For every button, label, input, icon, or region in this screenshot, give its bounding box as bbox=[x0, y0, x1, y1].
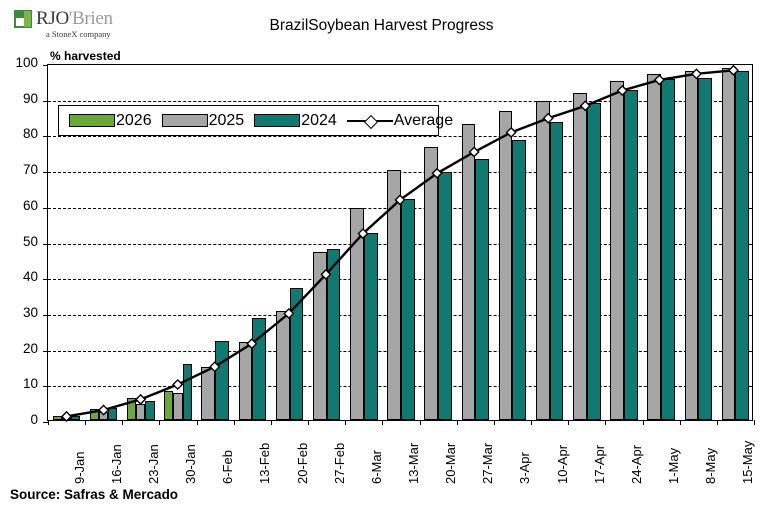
x-tick-label-27-Mar: 27-Mar bbox=[480, 443, 495, 484]
bar-2024-27-Mar bbox=[475, 159, 489, 420]
legend-label-2024: 2024 bbox=[301, 112, 337, 130]
bar-2024-9-Jan bbox=[71, 416, 80, 420]
legend-label-2025: 2025 bbox=[209, 112, 245, 130]
y-tick-mark bbox=[43, 351, 48, 352]
x-tick-label-9-Jan: 9-Jan bbox=[72, 451, 87, 484]
y-tick-label: 30 bbox=[0, 305, 38, 320]
y-tick-label: 20 bbox=[0, 341, 38, 356]
bar-2026-30-Jan bbox=[164, 391, 173, 420]
x-tick-label-24-Apr: 24-Apr bbox=[629, 445, 644, 484]
y-tick-label: 40 bbox=[0, 269, 38, 284]
y-tick-label: 90 bbox=[0, 91, 38, 106]
bar-2024-17-Apr bbox=[587, 103, 601, 420]
x-axis-labels: 9-Jan16-Jan23-Jan30-Jan6-Feb13-Feb20-Feb… bbox=[47, 424, 753, 486]
legend-item-2025[interactable]: 2025 bbox=[162, 112, 245, 130]
legend-line-swatch bbox=[347, 114, 393, 127]
y-tick-mark bbox=[43, 208, 48, 209]
bar-2024-3-Apr bbox=[512, 140, 526, 420]
legend-diamond-icon bbox=[364, 115, 378, 129]
x-tick-label-20-Mar: 20-Mar bbox=[443, 443, 458, 484]
x-tick-label-23-Jan: 23-Jan bbox=[146, 444, 161, 484]
y-tick-mark bbox=[43, 172, 48, 173]
bar-2024-6-Feb bbox=[215, 341, 229, 420]
y-tick-mark bbox=[43, 279, 48, 280]
bar-2024-27-Feb bbox=[327, 249, 341, 420]
legend-item-2024[interactable]: 2024 bbox=[254, 112, 337, 130]
bar-2025-27-Mar bbox=[462, 124, 476, 420]
x-tick-label-13-Feb: 13-Feb bbox=[257, 443, 272, 484]
bar-2024-16-Jan bbox=[108, 408, 117, 420]
y-tick-mark bbox=[43, 65, 48, 66]
bar-2024-30-Jan bbox=[183, 364, 192, 420]
bar-2025-24-Apr bbox=[610, 81, 624, 420]
bar-2024-8-May bbox=[698, 78, 712, 420]
bar-2025-17-Apr bbox=[573, 93, 587, 420]
x-tick-label-6-Mar: 6-Mar bbox=[369, 450, 384, 484]
bar-2025-8-May bbox=[685, 71, 699, 420]
x-tick-label-8-May: 8-May bbox=[703, 448, 718, 484]
x-tick-label-20-Feb: 20-Feb bbox=[295, 443, 310, 484]
y-tick-label: 0 bbox=[0, 412, 38, 427]
bar-2025-3-Apr bbox=[499, 111, 513, 420]
x-tick-label-16-Jan: 16-Jan bbox=[109, 444, 124, 484]
legend-label-2026: 2026 bbox=[116, 112, 152, 130]
y-tick-mark bbox=[43, 315, 48, 316]
legend-swatch-2025 bbox=[162, 114, 208, 127]
legend-item-2026[interactable]: 2026 bbox=[69, 112, 152, 130]
x-tick-label-15-May: 15-May bbox=[740, 441, 755, 484]
y-tick-label: 80 bbox=[0, 126, 38, 141]
bar-2024-10-Apr bbox=[550, 122, 564, 420]
x-tick-label-27-Feb: 27-Feb bbox=[332, 443, 347, 484]
y-tick-label: 70 bbox=[0, 162, 38, 177]
y-tick-label: 60 bbox=[0, 198, 38, 213]
bar-2025-6-Feb bbox=[201, 367, 215, 420]
x-tick-mark bbox=[754, 420, 755, 425]
chart-title: BrazilSoybean Harvest Progress bbox=[0, 17, 763, 35]
bar-2025-27-Feb bbox=[313, 252, 327, 420]
bar-2025-20-Mar bbox=[424, 147, 438, 420]
y-tick-label: 10 bbox=[0, 376, 38, 391]
legend-label-average: Average bbox=[394, 112, 453, 130]
bar-2024-24-Apr bbox=[624, 90, 638, 420]
bar-2025-9-Jan bbox=[62, 418, 71, 420]
x-tick-label-3-Apr: 3-Apr bbox=[517, 452, 532, 484]
x-tick-label-1-May: 1-May bbox=[666, 448, 681, 484]
legend-swatch-2026 bbox=[69, 114, 115, 127]
y-tick-mark bbox=[43, 136, 48, 137]
bar-2025-30-Jan bbox=[173, 393, 182, 420]
bar-2025-13-Mar bbox=[387, 170, 401, 420]
bar-2024-13-Feb bbox=[252, 318, 266, 420]
y-tick-label: 100 bbox=[0, 55, 38, 70]
bar-2025-23-Jan bbox=[136, 404, 145, 420]
bar-2024-1-May bbox=[661, 79, 675, 420]
bar-2026-9-Jan bbox=[53, 416, 62, 420]
legend-item-average[interactable]: Average bbox=[347, 112, 453, 130]
bar-2025-6-Mar bbox=[350, 208, 364, 420]
x-tick-label-6-Feb: 6-Feb bbox=[220, 450, 235, 484]
y-axis-label: % harvested bbox=[50, 49, 121, 63]
bar-2024-13-Mar bbox=[401, 199, 415, 420]
bar-2024-23-Jan bbox=[145, 401, 154, 420]
y-tick-mark bbox=[43, 386, 48, 387]
y-tick-mark bbox=[43, 244, 48, 245]
bar-2026-16-Jan bbox=[90, 409, 99, 420]
chart-legend: 202620252024Average bbox=[58, 105, 439, 136]
bar-2024-20-Mar bbox=[438, 172, 452, 420]
x-tick-label-10-Apr: 10-Apr bbox=[555, 445, 570, 484]
bar-2026-23-Jan bbox=[127, 398, 136, 420]
bar-2025-16-Jan bbox=[99, 412, 108, 420]
y-tick-label: 50 bbox=[0, 234, 38, 249]
legend-swatch-2024 bbox=[254, 114, 300, 127]
y-tick-mark bbox=[43, 101, 48, 102]
bar-2024-20-Feb bbox=[290, 288, 304, 420]
source-note: Source: Safras & Mercado bbox=[10, 487, 178, 502]
bar-2025-10-Apr bbox=[536, 101, 550, 421]
x-tick-label-17-Apr: 17-Apr bbox=[592, 445, 607, 484]
bar-2025-1-May bbox=[647, 74, 661, 420]
bar-2024-15-May bbox=[735, 71, 749, 420]
bar-2025-13-Feb bbox=[239, 342, 253, 420]
x-tick-label-30-Jan: 30-Jan bbox=[183, 444, 198, 484]
bar-2025-20-Feb bbox=[276, 311, 290, 420]
x-tick-label-13-Mar: 13-Mar bbox=[406, 443, 421, 484]
bar-2024-6-Mar bbox=[364, 233, 378, 420]
bar-2025-15-May bbox=[722, 68, 736, 420]
